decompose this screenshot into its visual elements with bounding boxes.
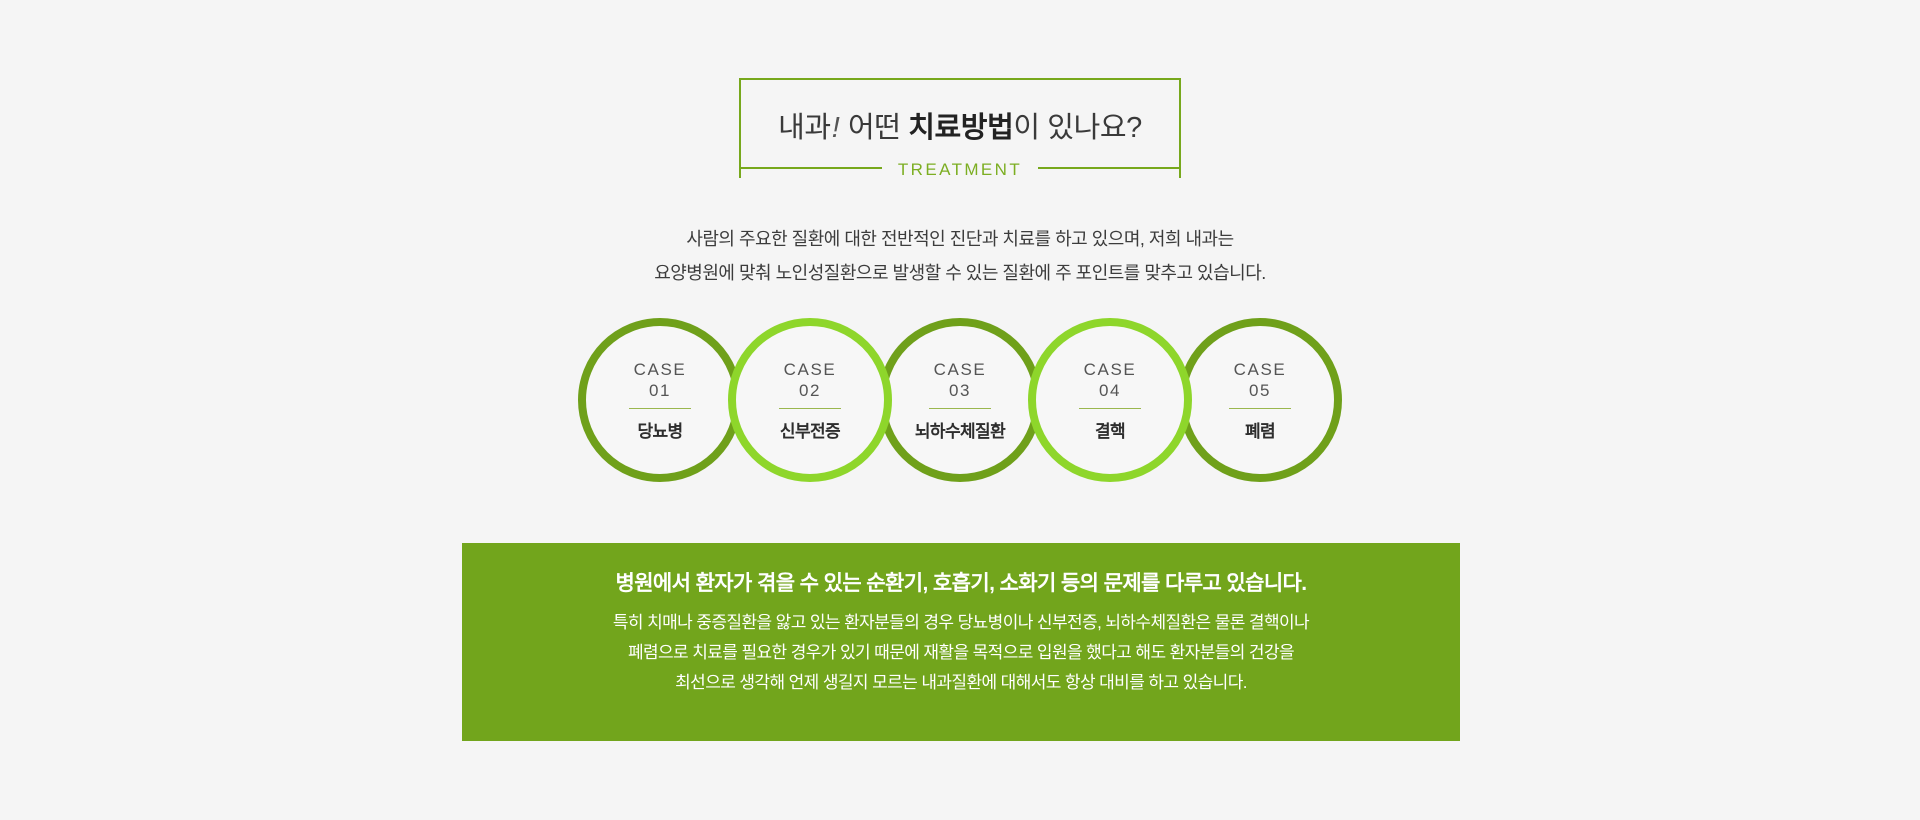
rule-left xyxy=(741,167,882,169)
case-number: 03 xyxy=(949,380,971,401)
title-suffix: 이 있나요? xyxy=(1013,112,1142,144)
intro-line-1: 사람의 주요한 질환에 대한 전반적인 진단과 치료를 하고 있으며, 저희 내… xyxy=(0,222,1920,256)
summary-line-3: 최선으로 생각해 언제 생길지 모르는 내과질환에 대해서도 항상 대비를 하고… xyxy=(480,668,1442,698)
case-divider xyxy=(1079,408,1141,409)
title-prefix: 내과 xyxy=(778,112,831,144)
summary-heading: 병원에서 환자가 겪을 수 있는 순환기, 호흡기, 소화기 등의 문제를 다루… xyxy=(480,569,1442,599)
case-divider xyxy=(629,408,691,409)
case-number: 04 xyxy=(1099,380,1121,401)
intro-paragraph: 사람의 주요한 질환에 대한 전반적인 진단과 치료를 하고 있으며, 저희 내… xyxy=(0,222,1920,290)
summary-line-2: 폐렴으로 치료를 필요한 경우가 있기 때문에 재활을 목적으로 입원을 했다고… xyxy=(480,638,1442,668)
page-title: 내과! 어떤 치료방법이 있나요? xyxy=(741,104,1179,146)
case-name: 신부전증 xyxy=(780,417,840,442)
case-divider xyxy=(1229,408,1291,409)
case-label: CASE xyxy=(784,359,837,380)
heading-box: 내과! 어떤 치료방법이 있나요? TREATMENT xyxy=(739,78,1181,178)
title-strong: 치료방법 xyxy=(908,112,1013,144)
case-circle-05[interactable]: CASE 05 폐렴 xyxy=(1178,318,1342,482)
case-list: CASE 01 당뇨병 CASE 02 신부전증 CASE 03 뇌하수체질환 … xyxy=(0,318,1920,482)
case-number: 05 xyxy=(1249,380,1271,401)
case-name: 폐렴 xyxy=(1245,417,1275,442)
case-number: 01 xyxy=(649,380,671,401)
section-subtitle: TREATMENT xyxy=(882,161,1038,178)
case-name: 뇌하수체질환 xyxy=(915,417,1005,442)
case-name: 결핵 xyxy=(1095,417,1125,442)
rule-right xyxy=(1038,167,1179,169)
case-divider xyxy=(779,408,841,409)
case-circle-02[interactable]: CASE 02 신부전증 xyxy=(728,318,892,482)
case-circle-03[interactable]: CASE 03 뇌하수체질환 xyxy=(878,318,1042,482)
case-divider xyxy=(929,408,991,409)
summary-line-1: 특히 치매나 중증질환을 앓고 있는 환자분들의 경우 당뇨병이나 신부전증, … xyxy=(480,608,1442,638)
case-label: CASE xyxy=(1084,359,1137,380)
case-circle-04[interactable]: CASE 04 결핵 xyxy=(1028,318,1192,482)
case-label: CASE xyxy=(634,359,687,380)
section-heading: 내과! 어떤 치료방법이 있나요? TREATMENT xyxy=(0,78,1920,178)
treatment-section: 내과! 어떤 치료방법이 있나요? TREATMENT 사람의 주요한 질환에 … xyxy=(0,0,1920,820)
case-circle-01[interactable]: CASE 01 당뇨병 xyxy=(578,318,742,482)
heading-bottom-rule: TREATMENT xyxy=(741,157,1179,179)
title-middle: 어떤 xyxy=(840,112,908,144)
title-exclamation: ! xyxy=(831,112,841,144)
summary-panel: 병원에서 환자가 겪을 수 있는 순환기, 호흡기, 소화기 등의 문제를 다루… xyxy=(462,543,1460,741)
intro-line-2: 요양병원에 맞춰 노인성질환으로 발생할 수 있는 질환에 주 포인트를 맞추고… xyxy=(0,256,1920,290)
case-label: CASE xyxy=(1234,359,1287,380)
case-number: 02 xyxy=(799,380,821,401)
summary-body: 특히 치매나 중증질환을 앓고 있는 환자분들의 경우 당뇨병이나 신부전증, … xyxy=(480,608,1442,698)
case-label: CASE xyxy=(934,359,987,380)
case-name: 당뇨병 xyxy=(637,417,682,442)
